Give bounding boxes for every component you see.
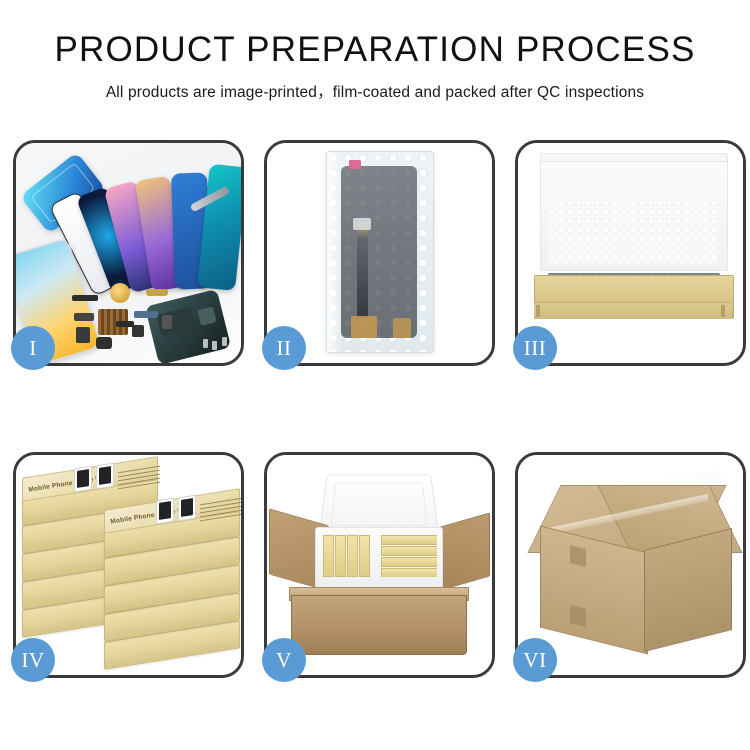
carton-front-icon xyxy=(291,595,467,655)
flex-cable-icon xyxy=(357,222,368,318)
carton-tape-mark-1-icon xyxy=(570,545,586,567)
tray-notch-right-icon xyxy=(721,305,725,317)
product-preparation-process-page: PRODUCT PREPARATION PROCESS All products… xyxy=(0,0,750,750)
foam-pad-icon xyxy=(548,199,718,265)
process-steps-grid: I II xyxy=(13,140,737,678)
carton-face-right-icon xyxy=(644,528,732,652)
lcd-screen-icon xyxy=(341,166,417,338)
connector-top-icon xyxy=(353,218,371,230)
carton-tape-mark-2-icon xyxy=(570,605,586,627)
process-step-panel-3[interactable]: III xyxy=(515,140,746,366)
screws-icon xyxy=(203,337,233,351)
step-3-image xyxy=(518,143,743,363)
step-4-image: Mobile Phone Spare Parts Mobile Phone Sp… xyxy=(16,455,241,675)
connector-bottom-right-icon xyxy=(393,318,411,338)
tray-notch-left-icon xyxy=(536,305,540,317)
step-badge-4: IV xyxy=(11,638,55,682)
box-thumbnail-3-icon xyxy=(156,498,174,525)
process-step-panel-2[interactable]: II xyxy=(264,140,495,366)
bag-fold-icon xyxy=(327,152,341,352)
phone-lineup-icon xyxy=(77,159,237,289)
kraft-boxes-horizontal-icon xyxy=(379,533,437,577)
connector-bottom-left-icon xyxy=(351,316,377,338)
qc-sticker-icon xyxy=(349,160,361,169)
step-badge-1: I xyxy=(11,326,55,370)
process-step-panel-6[interactable]: VI xyxy=(515,452,746,678)
box-thumbnail-4-icon xyxy=(178,495,196,522)
process-step-panel-4[interactable]: Mobile Phone Spare Parts Mobile Phone Sp… xyxy=(13,452,244,678)
page-title: PRODUCT PREPARATION PROCESS xyxy=(0,32,750,69)
spare-parts-icon xyxy=(72,281,192,353)
step-badge-5: V xyxy=(262,638,306,682)
kraft-tray-front-icon xyxy=(534,302,732,319)
step-1-image xyxy=(16,143,241,363)
step-5-image xyxy=(267,455,492,675)
step-6-image xyxy=(518,455,743,675)
box-stack-icon: Mobile Phone Spare Parts Mobile Phone Sp… xyxy=(22,481,237,661)
step-2-image xyxy=(267,143,492,363)
step-badge-6: VI xyxy=(513,638,557,682)
box-thumbnail-1-icon xyxy=(74,466,92,493)
page-subtitle: All products are image-printed，film-coat… xyxy=(0,80,750,102)
page-header: PRODUCT PREPARATION PROCESS All products… xyxy=(0,0,750,102)
bubble-wrap-bag-icon xyxy=(326,151,434,353)
process-step-panel-5[interactable]: V xyxy=(264,452,495,678)
box-thumbnail-2-icon xyxy=(96,463,114,490)
step-badge-2: II xyxy=(262,326,306,370)
step-badge-3: III xyxy=(513,326,557,370)
process-step-panel-1[interactable]: I xyxy=(13,140,244,366)
